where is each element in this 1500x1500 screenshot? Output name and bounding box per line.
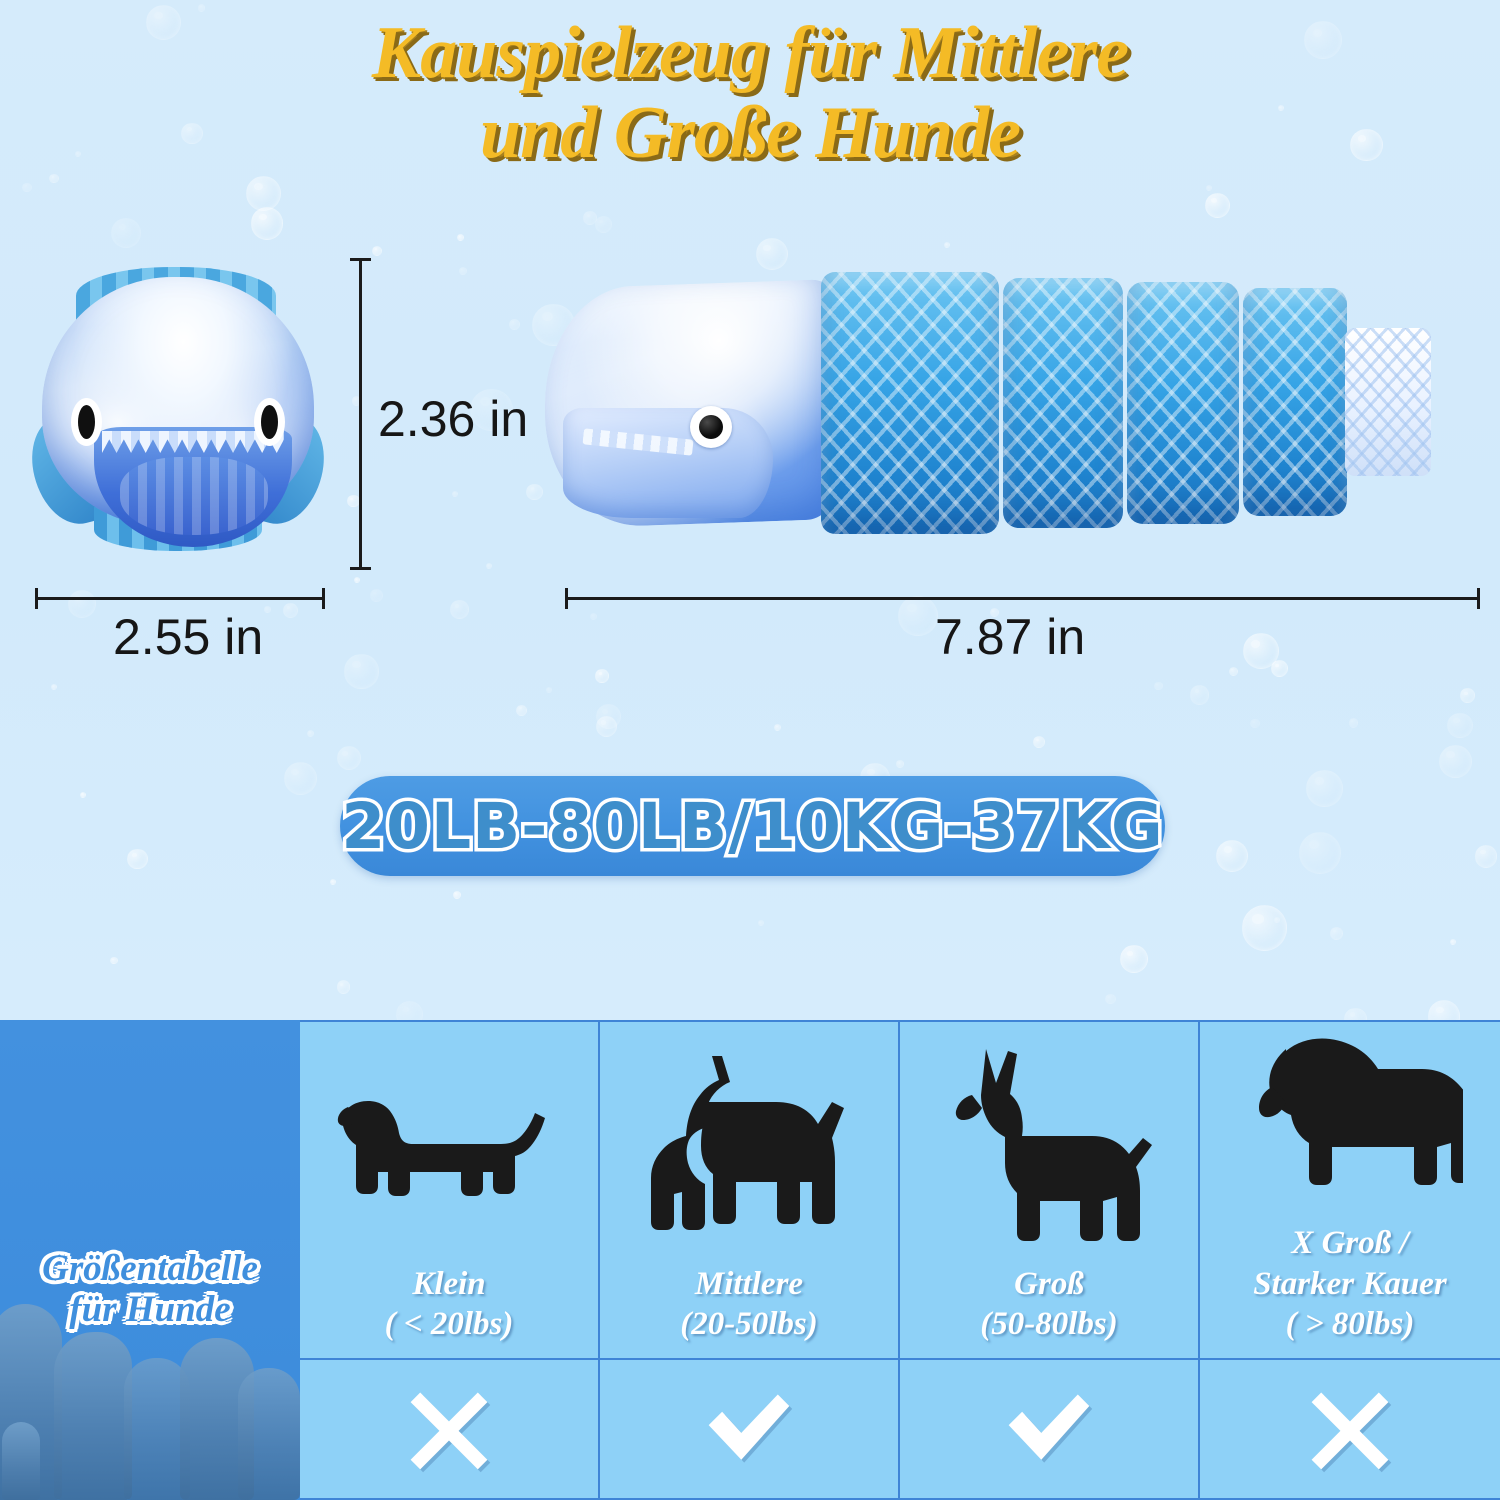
page-title-line1: Kauspielzeug für Mittlere (372, 12, 1128, 94)
size-weight: ( < 20lbs) (385, 1304, 514, 1344)
size-chart-panel-title-line1: Größentabelle (42, 1248, 258, 1289)
bubble-icon (1190, 685, 1210, 705)
check-icon (1001, 1381, 1097, 1477)
dimension-bar (35, 597, 325, 600)
size-chart-column-mittlere: Mittlere (20-50lbs) (600, 1020, 900, 1360)
size-chart-panel-title-line2: für Hunde (69, 1289, 230, 1330)
page-title-line2: und Große Hunde (0, 94, 1500, 174)
bubble-icon (110, 957, 118, 965)
dachshund-silhouette (300, 1022, 598, 1264)
bubble-icon (596, 704, 621, 729)
bubble-icon (486, 563, 492, 569)
bubble-icon (344, 654, 378, 688)
dimension-label-large-toy-length: 7.87 in (935, 608, 1085, 666)
bubble-icon (457, 234, 464, 241)
bubble-icon (944, 242, 950, 248)
large-fish-body-segment-1 (821, 272, 999, 534)
bubble-icon (452, 491, 458, 497)
bubble-icon (1206, 185, 1212, 191)
large-fish-body-segment-4 (1243, 288, 1347, 516)
bubble-icon (51, 684, 57, 690)
bubble-icon (1229, 667, 1238, 676)
fit-cell-mittlere (600, 1360, 900, 1500)
bubble-icon (198, 4, 205, 11)
bubble-icon (1154, 682, 1163, 691)
bubble-icon (1033, 736, 1045, 748)
bubble-icon (595, 216, 612, 233)
small-fish-body (42, 277, 314, 527)
bubble-icon (1428, 1000, 1461, 1020)
bubble-icon (459, 267, 467, 275)
size-name: Groß (1014, 1266, 1084, 1302)
bubble-icon (1344, 1008, 1367, 1021)
size-name: Mittlere (695, 1266, 803, 1302)
bubble-icon (370, 589, 383, 602)
large-fish-body-segment-2 (1003, 278, 1123, 528)
size-chart-grid: Klein ( < 20lbs) Mittlere (20-50lbs) (300, 1020, 1500, 1500)
bubble-icon (68, 590, 97, 619)
bubble-icon (251, 207, 283, 239)
weight-range-label: 20LB-80LB/10KG-37KG (341, 790, 1163, 863)
bubble-icon (896, 760, 903, 767)
bubble-icon (1330, 927, 1343, 940)
dimension-label-small-toy-height: 2.36 in (378, 390, 528, 448)
bubble-icon (590, 613, 598, 621)
bubble-icon (450, 600, 469, 619)
size-weight: ( > 80lbs) (1253, 1304, 1446, 1344)
bubble-icon (396, 1001, 423, 1020)
size-chart-column-klein: Klein ( < 20lbs) (300, 1020, 600, 1360)
bubble-icon (1447, 713, 1473, 739)
bubble-icon (1306, 770, 1343, 807)
dimension-bar (359, 258, 362, 570)
bubble-icon (595, 669, 609, 683)
small-fish-teeth (102, 431, 284, 453)
bubble-icon (1349, 718, 1359, 728)
large-fish-chew-toy (545, 258, 1485, 558)
small-fish-left-eye (78, 405, 95, 439)
bubble-icon (22, 183, 31, 192)
hero-section: Kauspielzeug für Mittlere und Große Hund… (0, 0, 1500, 1020)
size-name-line1: X Groß / (1291, 1225, 1408, 1261)
dog-size-chart: Größentabelle für Hunde Klein ( < 20lbs) (0, 1020, 1500, 1500)
dimension-bar (565, 597, 1480, 600)
bubble-icon (898, 596, 938, 636)
size-weight: (20-50lbs) (680, 1304, 817, 1344)
bubble-icon (372, 246, 383, 257)
dimension-cap-right (322, 588, 325, 609)
size-weight: (50-80lbs) (980, 1304, 1117, 1344)
dimension-label-small-toy-width: 2.55 in (113, 608, 263, 666)
bubble-icon (546, 687, 553, 694)
small-fish-tongue (120, 457, 268, 535)
bubble-icon (509, 319, 520, 330)
large-fish-body-segment-3 (1127, 282, 1239, 524)
bubble-icon (1216, 840, 1248, 872)
size-chart-panel-title: Größentabelle für Hunde (0, 1248, 300, 1331)
bubble-icon (1299, 832, 1341, 874)
dimension-cap-right (1477, 588, 1480, 609)
product-infographic: Kauspielzeug für Mittlere und Große Hund… (0, 0, 1500, 1500)
bubble-icon (49, 174, 59, 184)
size-chart-column-xgross: X Groß / Starker Kauer ( > 80lbs) (1200, 1020, 1500, 1360)
size-label-gross: Groß (50-80lbs) (980, 1264, 1117, 1359)
bubble-icon (127, 849, 148, 870)
check-icon (701, 1381, 797, 1477)
small-fish-right-eye (261, 405, 278, 439)
size-label-mittlere: Mittlere (20-50lbs) (680, 1264, 817, 1359)
bubble-icon (758, 920, 764, 926)
fit-cell-xgross (1200, 1360, 1500, 1500)
bubble-icon (354, 577, 360, 583)
bubble-icon (1250, 719, 1260, 729)
dimension-cap-bottom (350, 567, 371, 570)
bubble-icon (516, 705, 527, 716)
bubble-icon (1120, 945, 1148, 973)
bubble-icon (284, 762, 317, 795)
large-fish-tail-joint (1345, 328, 1431, 476)
weight-range-badge: 20LB-80LB/10KG-37KG (340, 776, 1165, 876)
bubble-icon (307, 730, 314, 737)
large-fish-jaw (563, 408, 773, 518)
cross-icon (401, 1381, 497, 1477)
bubble-icon (1439, 745, 1473, 779)
bubble-icon (80, 792, 86, 798)
bubble-icon (283, 603, 298, 618)
bubble-icon (453, 891, 461, 899)
bubble-icon (1475, 845, 1498, 868)
bubble-icon (774, 724, 781, 731)
bubble-icon (1450, 939, 1456, 945)
fit-cell-klein (300, 1360, 600, 1500)
bubble-icon (526, 484, 543, 501)
size-label-klein: Klein ( < 20lbs) (385, 1264, 514, 1359)
doberman-silhouette (900, 1022, 1198, 1264)
large-fish-eye (690, 406, 732, 448)
size-name: Starker Kauer (1253, 1264, 1446, 1304)
mastiff-silhouette (1200, 1022, 1500, 1223)
bubble-icon (1243, 633, 1279, 669)
bubble-icon (330, 879, 337, 886)
bubble-icon (1242, 905, 1287, 950)
bubble-icon (1205, 193, 1230, 218)
bubble-icon (1460, 688, 1475, 703)
cross-icon (1302, 1381, 1398, 1477)
size-chart-header-panel: Größentabelle für Hunde (0, 1020, 300, 1500)
size-chart-column-gross: Groß (50-80lbs) (900, 1020, 1200, 1360)
size-label-xgross: X Groß / Starker Kauer ( > 80lbs) (1253, 1223, 1446, 1358)
bubble-icon (337, 980, 351, 994)
bubble-icon (1105, 994, 1116, 1005)
fit-cell-gross (900, 1360, 1200, 1500)
small-fish-chew-toy (28, 255, 328, 555)
bubble-icon (246, 176, 282, 212)
bubble-icon (347, 495, 360, 508)
schnauzer-silhouette (600, 1022, 898, 1264)
bubble-icon (111, 218, 141, 248)
size-name: Klein (412, 1266, 485, 1302)
bubble-icon (337, 746, 362, 771)
bubble-icon (264, 606, 271, 613)
page-title: Kauspielzeug für Mittlere und Große Hund… (0, 14, 1500, 174)
